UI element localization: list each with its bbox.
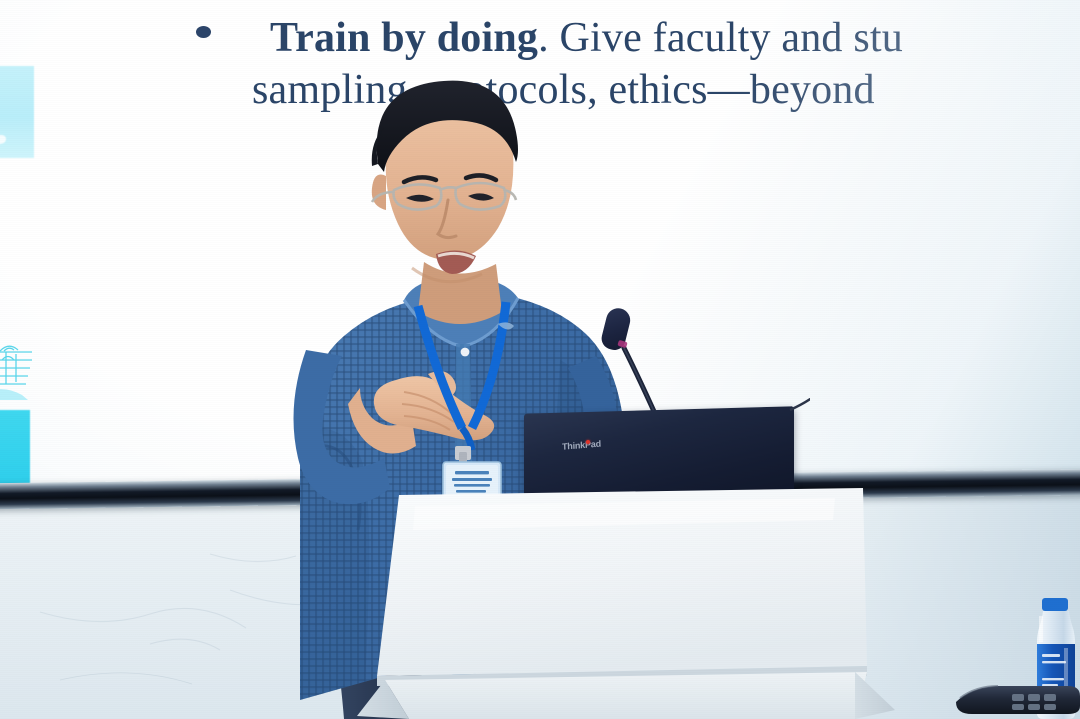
- presenter-remote[interactable]: [950, 676, 1080, 719]
- speaker-head: [372, 81, 518, 282]
- lectern: [355, 480, 915, 719]
- lectern-front: [385, 672, 867, 719]
- presentation-scene: Train by doing. Give faculty and stu sam…: [0, 0, 1080, 719]
- laptop-cable: [790, 398, 810, 410]
- bottle-cap: [1042, 598, 1068, 611]
- lectern-side: [855, 672, 895, 719]
